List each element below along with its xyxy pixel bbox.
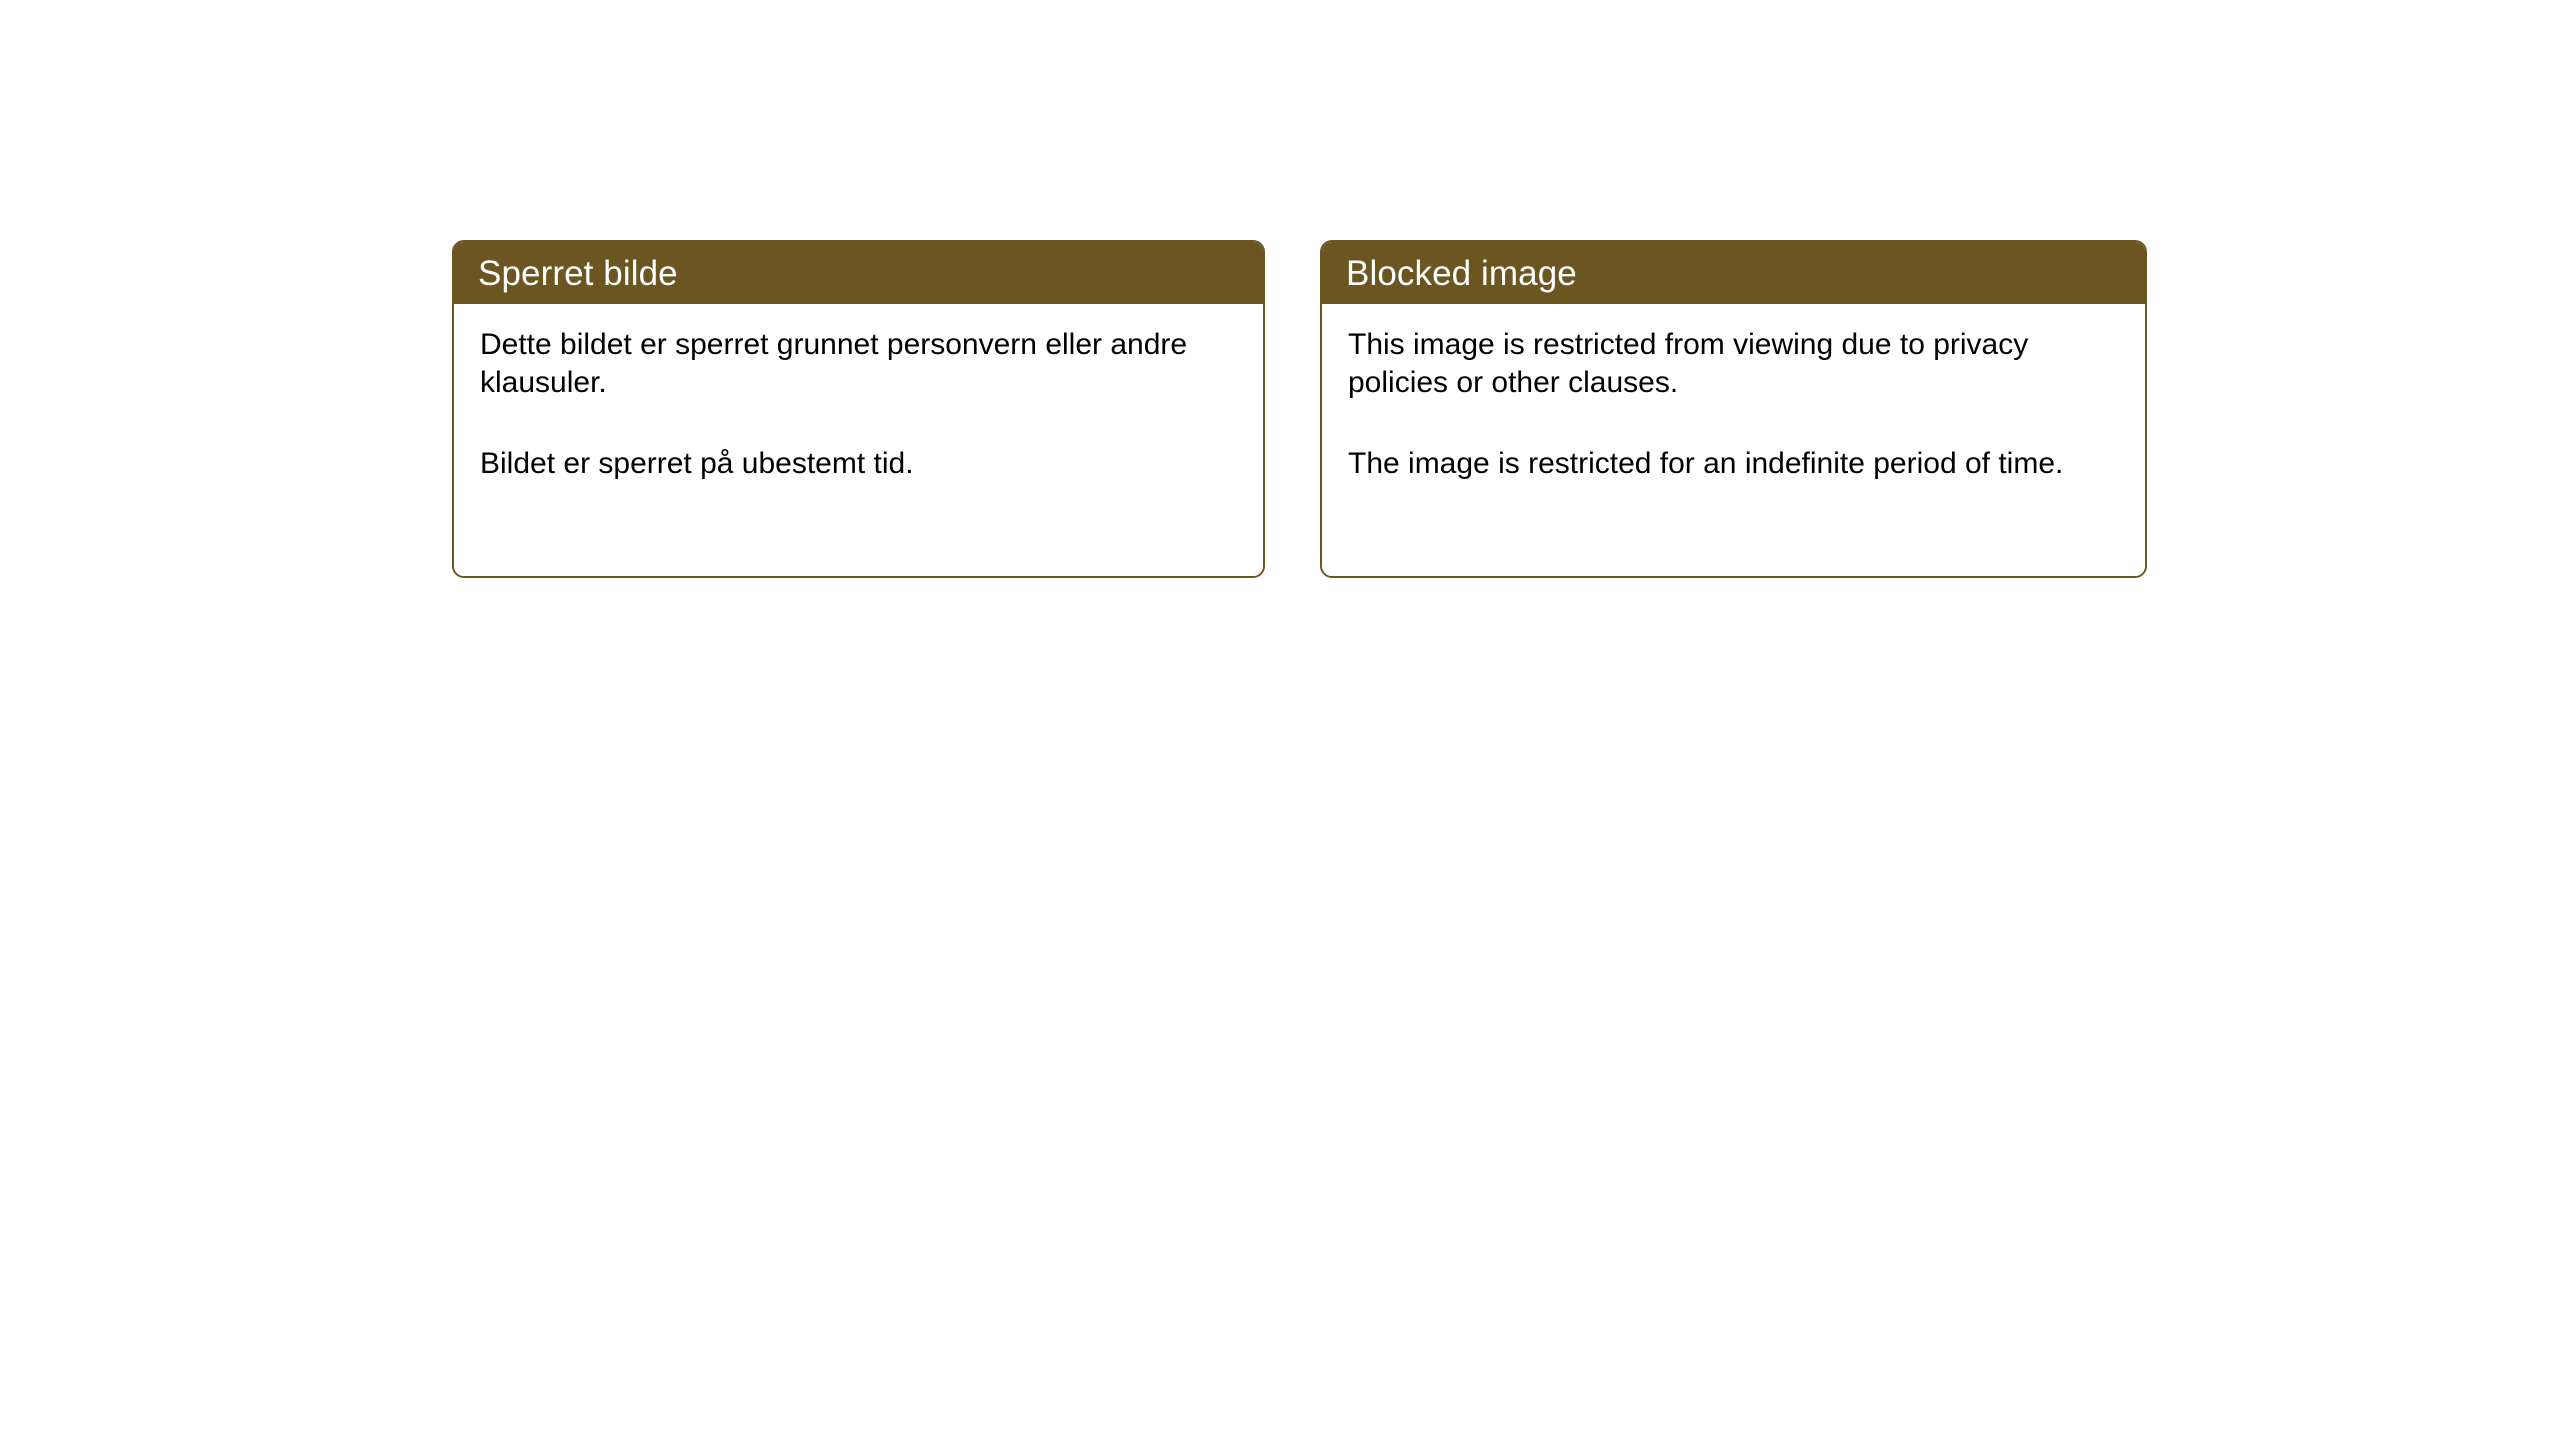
notice-paragraph-primary-no: Dette bildet er sperret grunnet personve…: [480, 326, 1237, 403]
notice-paragraph-secondary-no: Bildet er sperret på ubestemt tid.: [480, 445, 1237, 483]
blocked-image-notice-card-en: Blocked image This image is restricted f…: [1320, 240, 2147, 578]
notice-card-header-en: Blocked image: [1322, 242, 2145, 304]
notice-card-title-en: Blocked image: [1346, 256, 1577, 291]
notice-card-header-no: Sperret bilde: [454, 242, 1263, 304]
page-canvas: Sperret bilde Dette bildet er sperret gr…: [0, 0, 2560, 1440]
notice-paragraph-secondary-en: The image is restricted for an indefinit…: [1348, 445, 2119, 483]
notice-card-body-en: This image is restricted from viewing du…: [1322, 304, 2145, 576]
notice-paragraph-primary-en: This image is restricted from viewing du…: [1348, 326, 2119, 403]
notice-card-body-no: Dette bildet er sperret grunnet personve…: [454, 304, 1263, 576]
blocked-image-notice-card-no: Sperret bilde Dette bildet er sperret gr…: [452, 240, 1265, 578]
notice-card-title-no: Sperret bilde: [478, 256, 678, 291]
